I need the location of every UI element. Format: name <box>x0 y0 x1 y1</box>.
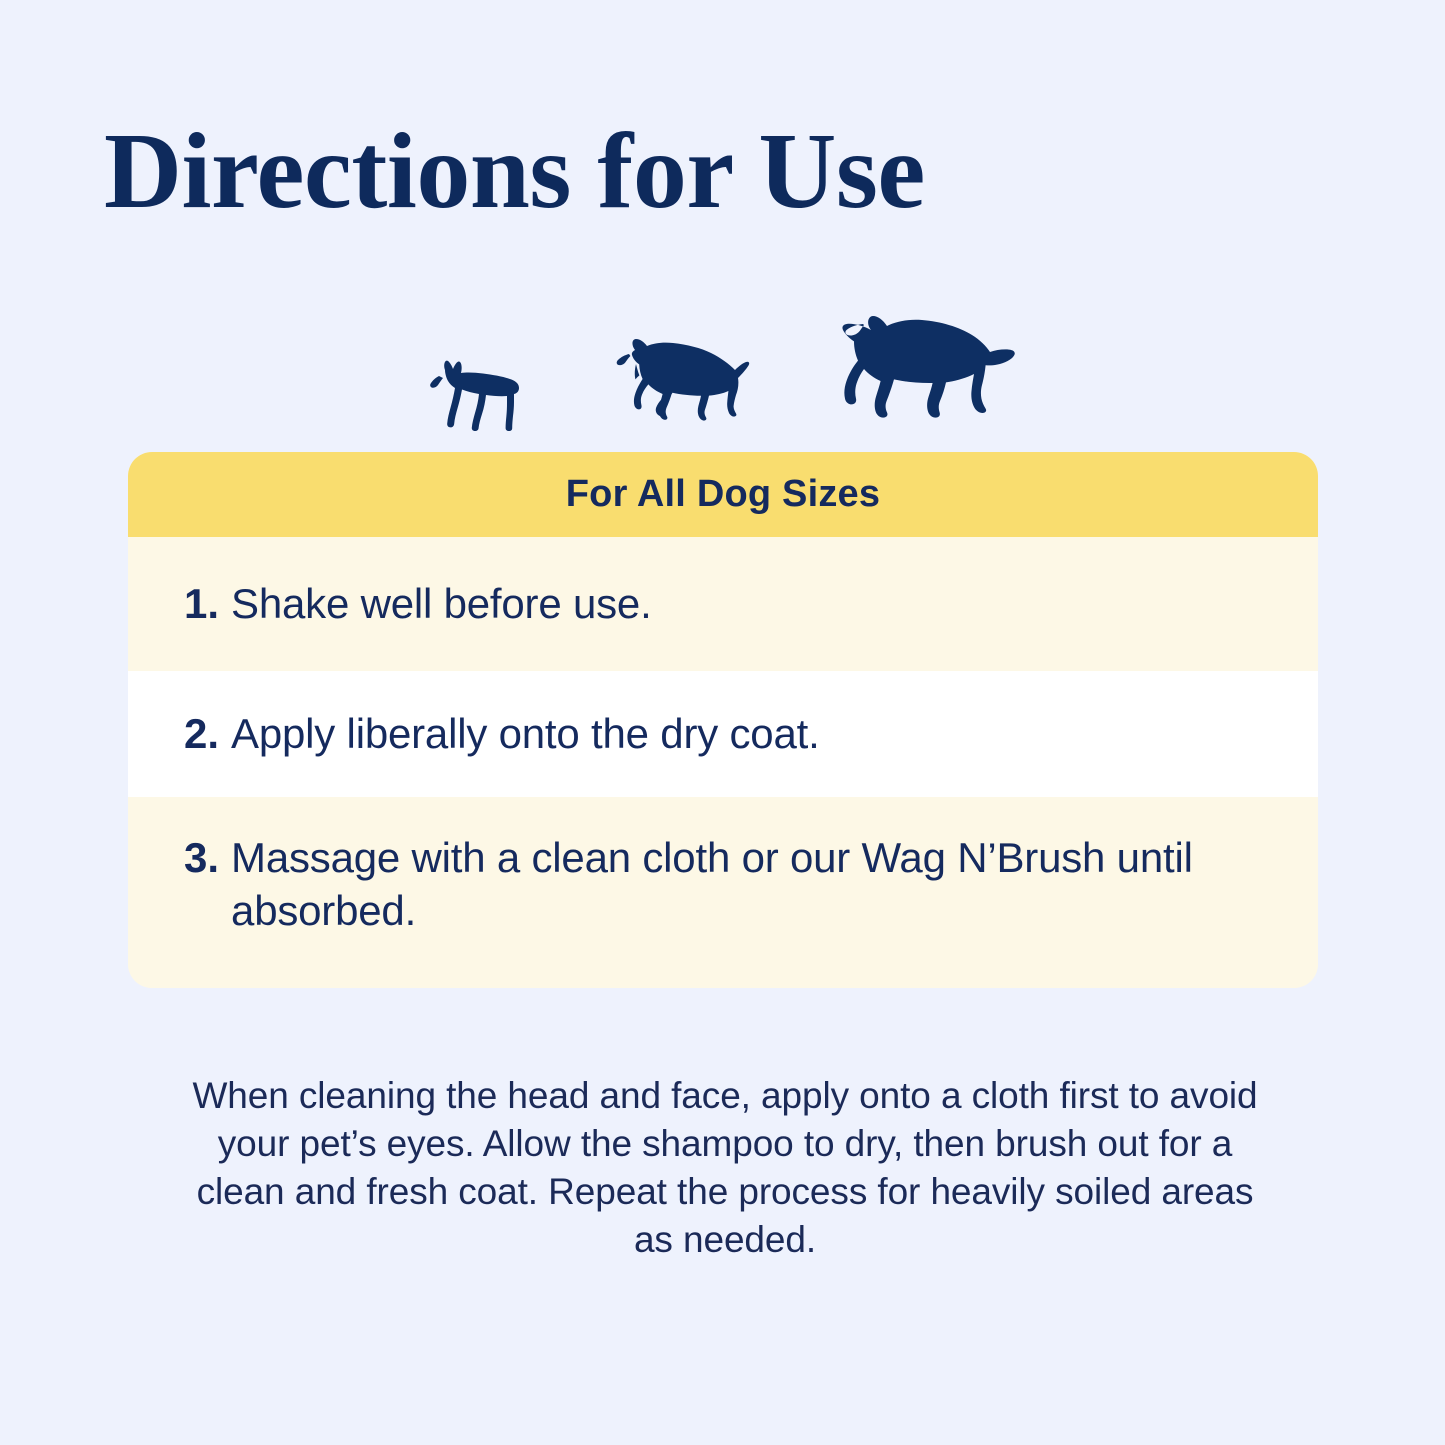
medium-dog-icon <box>605 330 751 436</box>
step-text: Shake well before use. <box>231 577 1262 631</box>
card-header-title: For All Dog Sizes <box>566 473 880 516</box>
instructions-card: For All Dog Sizes 1. Shake well before u… <box>128 452 1318 988</box>
step-number: 1. <box>184 577 219 631</box>
step-text: Massage with a clean cloth or our Wag N’… <box>231 831 1262 939</box>
page-title: Directions for Use <box>104 118 1344 226</box>
step-number: 2. <box>184 707 219 761</box>
directions-for-use-page: Directions for Use For All Dog Sizes 1. <box>0 0 1445 1445</box>
small-dog-icon <box>427 354 523 436</box>
step-row: 3. Massage with a clean cloth or our Wag… <box>128 797 1318 989</box>
step-row: 2. Apply liberally onto the dry coat. <box>128 671 1318 797</box>
step-number: 3. <box>184 831 219 885</box>
dog-sizes-illustration <box>0 296 1445 436</box>
step-text: Apply liberally onto the dry coat. <box>231 707 1262 761</box>
large-dog-icon <box>833 308 1019 436</box>
step-row: 1. Shake well before use. <box>128 537 1318 671</box>
card-header: For All Dog Sizes <box>128 452 1318 537</box>
footnote-text: When cleaning the head and face, apply o… <box>190 1072 1260 1264</box>
